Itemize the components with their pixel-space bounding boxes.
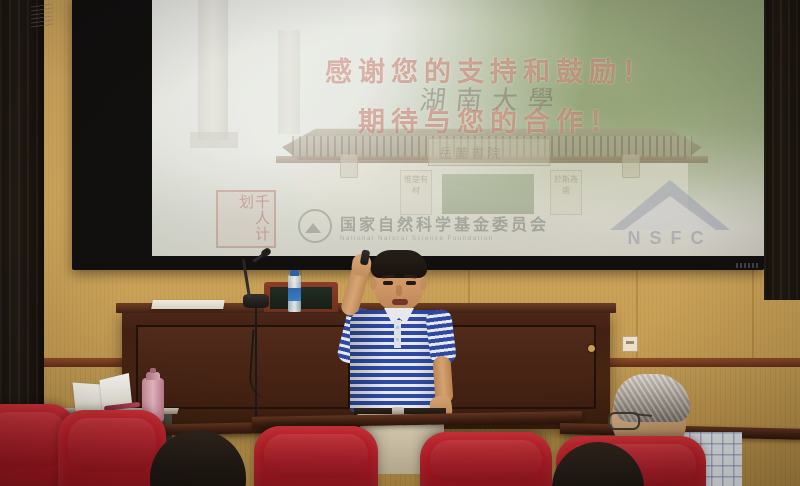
shirt-placket [394, 320, 401, 348]
projection-screen-frame: 岳麓書院 惟楚有材 於斯為盛 千人计划 国家自然科学基金委员会 National… [72, 0, 764, 270]
theater-seat [254, 426, 378, 486]
screen-vignette-overlay [152, 0, 800, 256]
stage-curtain-right [764, 0, 800, 300]
water-bottle-label [288, 288, 301, 301]
monitor-screen [270, 287, 332, 309]
presenter-mouth [392, 299, 408, 305]
presenter-ear-left [370, 278, 377, 290]
thermos-cap [146, 372, 160, 380]
water-bottle-cap [290, 270, 299, 276]
presenter-eye-right [406, 281, 416, 285]
presenter-eye-left [383, 281, 393, 285]
stage-curtain-left [0, 0, 44, 432]
presenter-nose [396, 285, 402, 296]
shirt-button-upper [396, 326, 399, 329]
presenter-ear-right [420, 278, 427, 290]
presenter-hair [371, 250, 427, 278]
notebook-ruled-lines [31, 3, 53, 28]
podium-papers [151, 300, 225, 309]
lecture-hall-photo: 岳麓書院 惟楚有材 於斯為盛 千人计划 国家自然科学基金委员会 National… [0, 0, 800, 486]
podium-monitor [264, 282, 338, 312]
podium-knob [588, 345, 595, 352]
shirt-button-lower [396, 338, 399, 341]
wall-outlet-plate [622, 336, 638, 352]
thermos-knob [150, 368, 156, 373]
projection-screen-surface: 岳麓書院 惟楚有材 於斯為盛 千人计划 国家自然科学基金委员会 National… [152, 0, 800, 256]
podium-panel-left [136, 325, 350, 409]
theater-seat [420, 432, 552, 486]
